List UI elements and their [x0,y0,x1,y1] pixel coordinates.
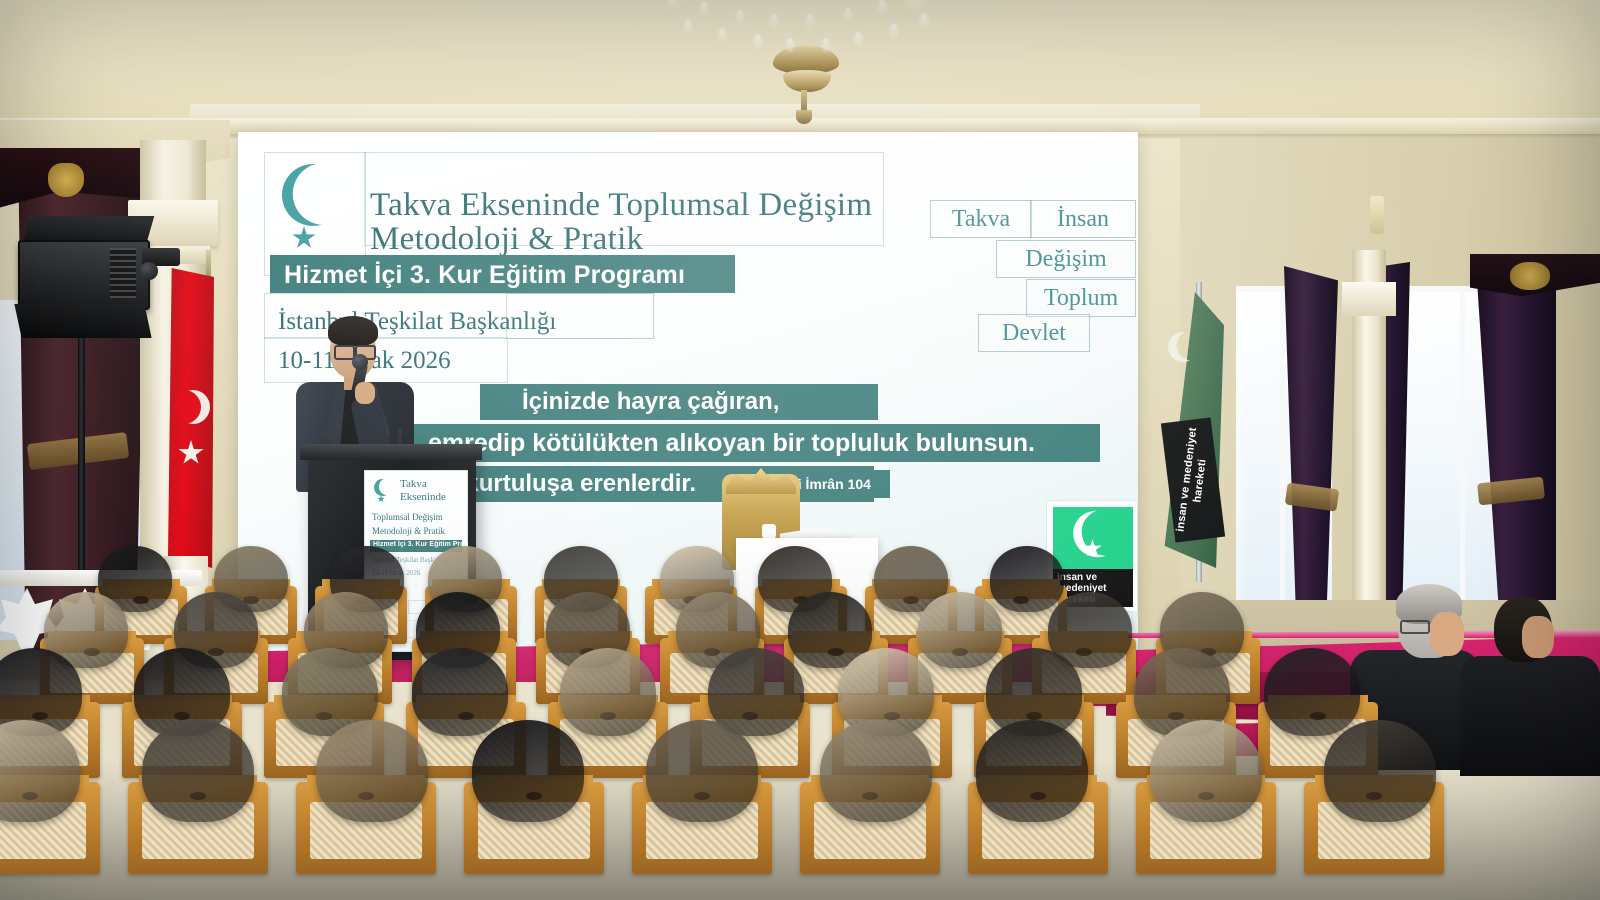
chandelier [655,0,955,98]
barndoor-bottom-icon [14,304,151,338]
eyeglasses-icon [1400,620,1430,634]
chandelier-crystal [823,38,829,51]
speaker-hand [355,382,375,404]
audience-attendee-head [976,720,1088,822]
slide-keyword-devlet: Devlet [978,314,1090,352]
conference-hall-photo: Takva Ekseninde Toplumsal Değişim Metodo… [0,0,1600,900]
slide-keyword-insan: İnsan [1030,200,1136,238]
chandelier-crystal [755,34,761,47]
chandelier-crystal [807,14,813,27]
chandelier-crystal [787,38,793,51]
speaker-hair [328,316,378,346]
poster-subtitle-1: Toplumsal Değişim [372,512,443,522]
crescent-icon [371,476,394,499]
audience-attendee-head [1324,720,1436,822]
light-adjust-knob [140,262,158,280]
chandelier-bowl [783,70,831,92]
slide-keyword-takva: Takva [930,200,1032,238]
slide-quote-line1: İçinizde hayra çağıran, [480,384,878,420]
audience-attendee-head [646,720,758,822]
audience-attendee-head [990,546,1064,612]
poster-title-1: Takva [400,478,427,490]
microphone-head-icon [352,354,368,370]
crescent-icon [271,153,355,237]
slide-program-label: Hizmet İçi 3. Kur Eğitim Programı [284,261,685,290]
chandelier-crystal [771,14,777,27]
light-grid [110,248,136,298]
left-pelmet-gold-ornament [48,163,84,197]
crescent-star-icon [268,160,360,270]
audience-attendee-head [820,720,932,822]
crescent-icon [176,390,210,424]
right-column-capital [1342,282,1396,316]
slide-keyword-degisim: Değişim [996,240,1136,278]
chandelier-finial [796,110,812,124]
audience-attendee-head [316,720,428,822]
slide-quote-line2: emredip kötülükten alıkoyan bir topluluk… [400,424,1100,462]
star-icon [292,226,316,250]
wall-sconce [1370,196,1384,234]
audience [0,560,1600,900]
poster-subtitle-2: Metodoloji & Pratik [372,526,445,536]
poster-title-2: Ekseninde [400,491,446,503]
audience-attendee-head [472,720,584,822]
chandelier-crystal [669,0,675,7]
crescent-icon [1065,503,1128,565]
chandelier-crystal [891,24,897,37]
right-pelmet-gold-ornament [1510,262,1550,290]
attendee-face [1430,612,1464,656]
chandelier-crystal [719,28,725,41]
attendee-face [1522,616,1554,658]
chandelier-crystal [921,14,927,27]
audience-attendee-head [142,720,254,822]
chandelier-crystal [685,20,691,33]
chandelier-stem [801,90,807,112]
attendee-body [1460,656,1600,776]
audience-attendee-head [412,648,508,736]
audience-attendee-head [918,592,1002,668]
chandelier-crystal [855,32,861,45]
slide-keyword-toplum: Toplum [1026,279,1136,317]
podium-top [300,444,482,460]
audience-attendee-head [1150,720,1262,822]
audience-attendee-head [1264,648,1360,736]
slide-title-line2: Metodoloji & Pratik [370,222,643,258]
slide-program-band: Hizmet İçi 3. Kur Eğitim Programı [270,255,735,293]
slide-title-line1: Takva Ekseninde Toplumsal Değişim [370,188,872,224]
slide-organization: İstanbul Teşkilat Başkanlığı [278,308,556,336]
audience-attendee-head [560,648,656,736]
crescent-star-icon [372,478,396,504]
light-stand [78,334,85,584]
